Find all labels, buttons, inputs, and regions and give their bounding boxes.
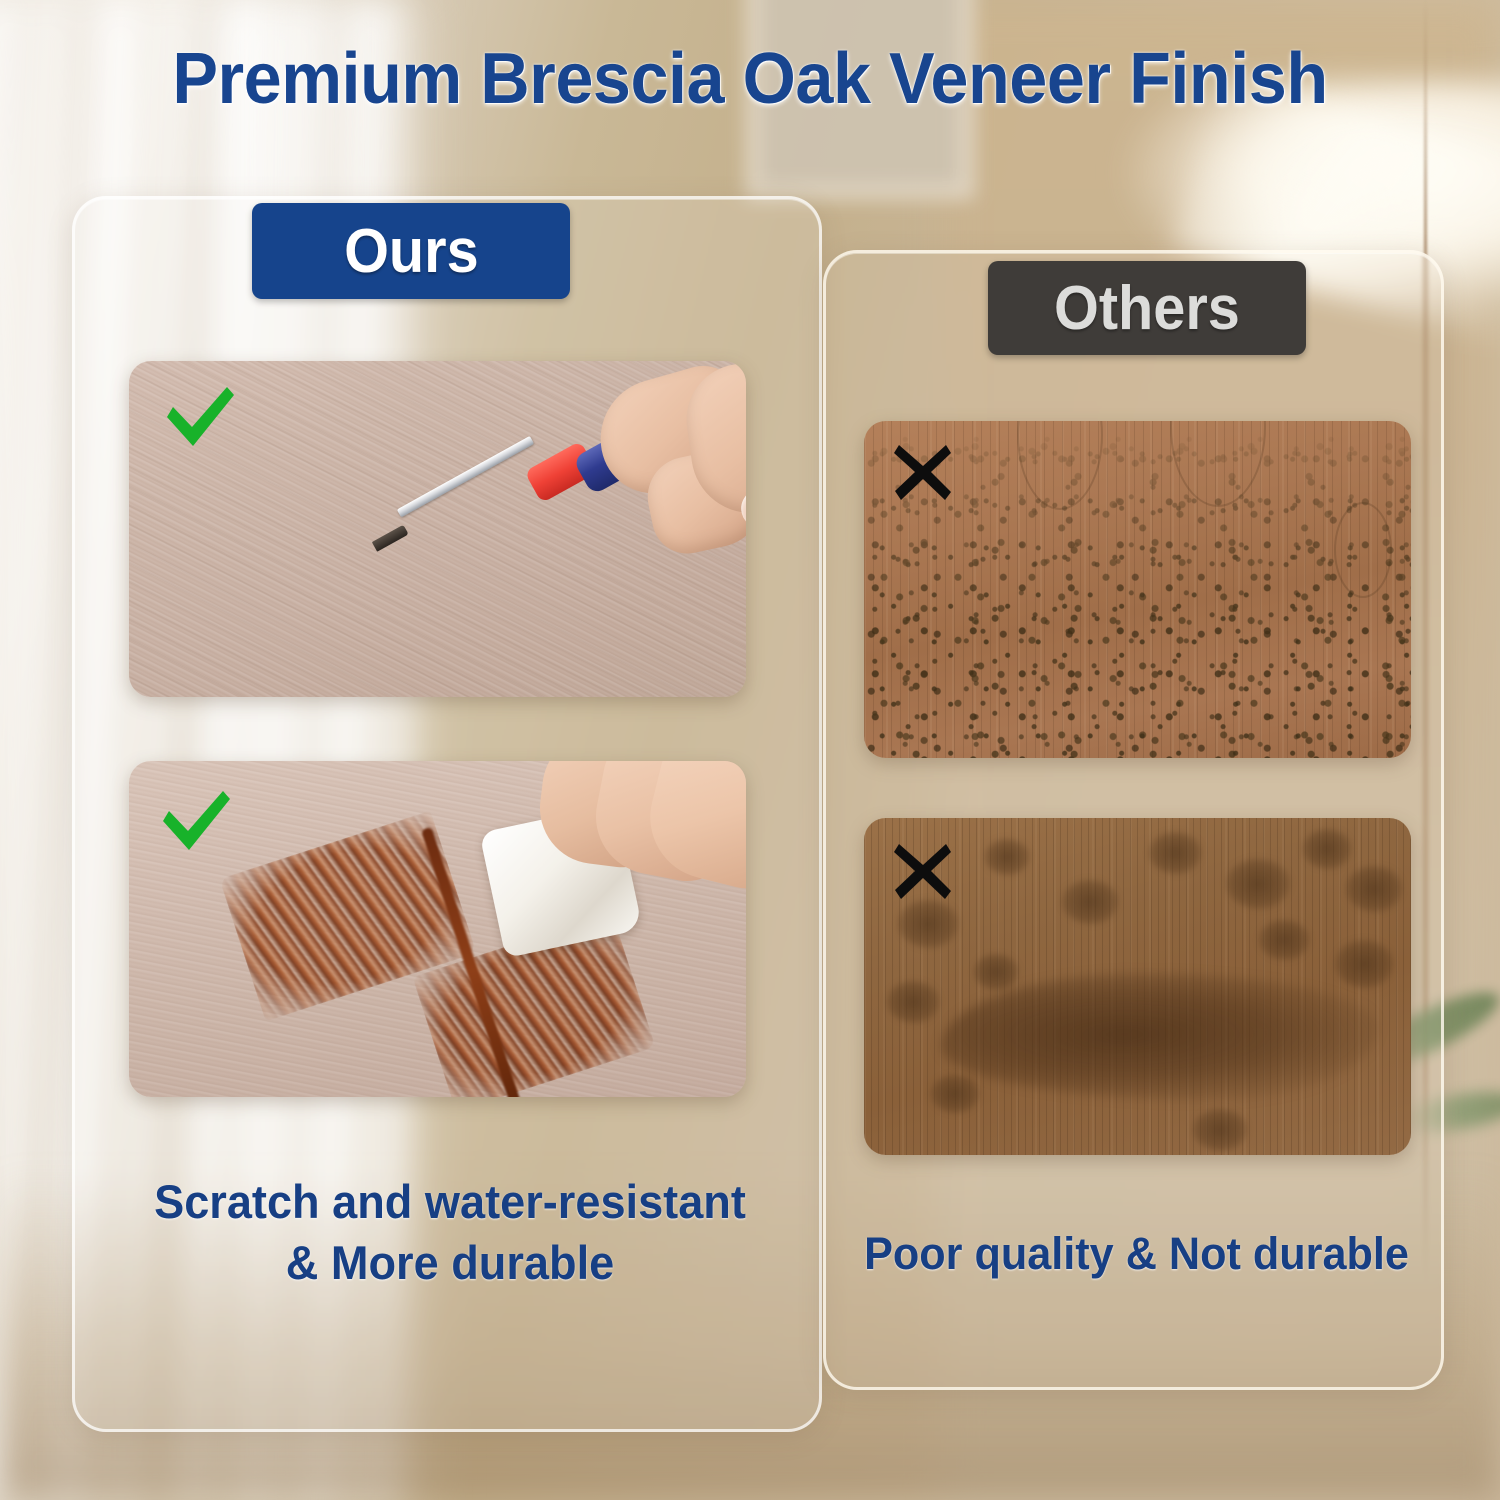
check-icon (159, 789, 233, 853)
badge-others-label: Others (1054, 273, 1240, 344)
page-title: Premium Brescia Oak Veneer Finish (38, 38, 1463, 120)
x-icon (894, 842, 952, 900)
water-stain (1061, 879, 1119, 925)
water-stain (1258, 919, 1310, 961)
water-stain (984, 838, 1030, 876)
photo-stain-wipe-test (129, 761, 746, 1097)
water-stain (1334, 939, 1394, 989)
badge-ours: Ours (252, 203, 570, 299)
water-stain (1345, 865, 1403, 913)
check-icon (163, 385, 237, 449)
water-stain-large (941, 973, 1379, 1101)
badge-others: Others (988, 261, 1306, 355)
water-stain (973, 953, 1019, 991)
photo-water-damage (864, 818, 1411, 1155)
water-stain (1192, 1108, 1248, 1152)
caption-others: Poor quality & Not durable (838, 1225, 1434, 1284)
comparison-panel-ours: Ours Scratch and water-resistant & More … (72, 196, 822, 1432)
water-stain (886, 980, 940, 1024)
photo-scratch-test (129, 361, 746, 697)
badge-ours-label: Ours (344, 216, 479, 287)
x-icon (894, 443, 952, 501)
caption-ours: Scratch and water-resistant & More durab… (90, 1171, 810, 1293)
photo-mold-damage (864, 421, 1411, 758)
water-stain (897, 899, 959, 949)
comparison-panel-others: Others Poor quality & Not durable (823, 250, 1444, 1390)
